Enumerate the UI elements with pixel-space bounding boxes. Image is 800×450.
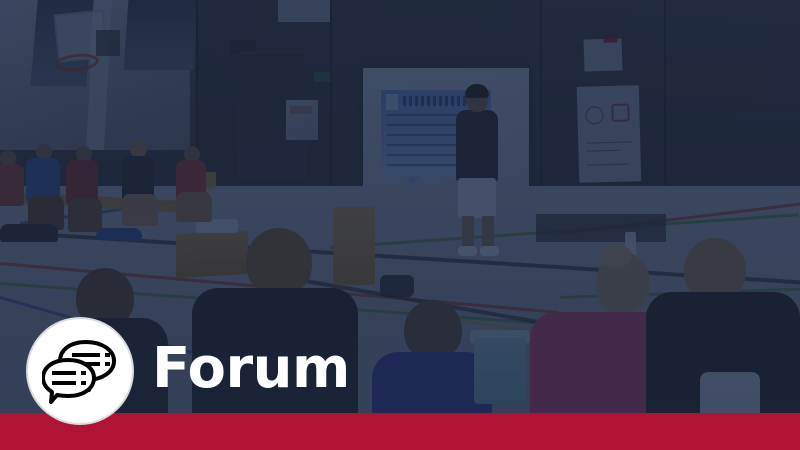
speech-bubbles-icon bbox=[42, 338, 118, 404]
banner-title: Forum bbox=[152, 341, 350, 397]
forum-banner[interactable]: Forum bbox=[0, 0, 800, 450]
accent-bar bbox=[0, 413, 800, 450]
forum-logo-badge[interactable] bbox=[26, 317, 134, 425]
